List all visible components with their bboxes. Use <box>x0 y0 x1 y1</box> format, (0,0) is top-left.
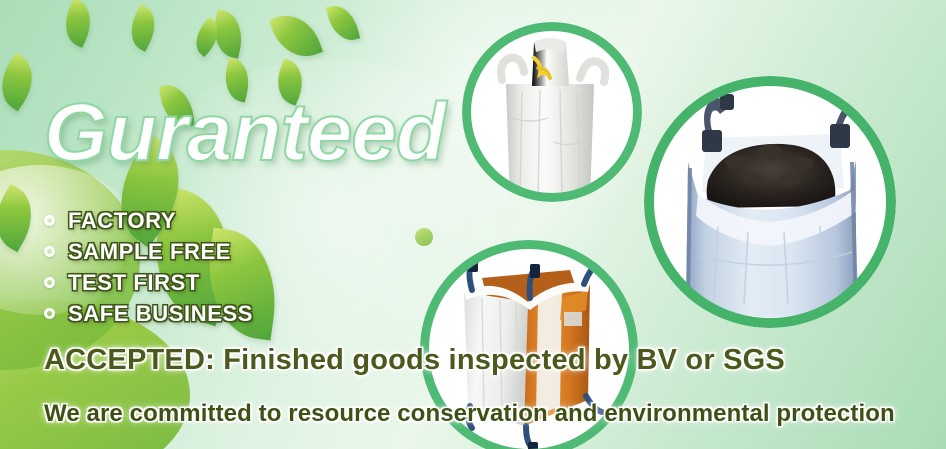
list-item: FACTORY <box>44 206 253 235</box>
promo-banner: Guranteed FACTORY SAMPLE FREE TEST FIRST… <box>0 0 946 449</box>
photo-ring-green <box>644 76 896 328</box>
list-item-label: SAFE BUSINESS <box>68 301 253 327</box>
feature-list: FACTORY SAMPLE FREE TEST FIRST SAFE BUSI… <box>44 206 253 330</box>
list-item-label: FACTORY <box>68 208 176 234</box>
background-dot <box>415 228 433 246</box>
photo-ring-green <box>462 22 642 202</box>
soil-filled-bulk-bag-photo <box>644 76 896 328</box>
white-bulk-bag-photo <box>462 22 642 202</box>
bullet-dot-icon <box>44 215 55 226</box>
tagline: We are committed to resource conservatio… <box>44 400 895 428</box>
certification-statement: ACCEPTED: Finished goods inspected by BV… <box>44 344 785 377</box>
list-item: TEST FIRST <box>44 268 253 297</box>
bullet-dot-icon <box>44 277 55 288</box>
bullet-dot-icon <box>44 246 55 257</box>
list-item: SAFE BUSINESS <box>44 299 253 328</box>
leaf-icon <box>57 0 100 48</box>
page-title: Guranteed <box>44 92 445 174</box>
leaf-icon <box>122 4 164 52</box>
bullet-dot-icon <box>44 308 55 319</box>
list-item: SAMPLE FREE <box>44 237 253 266</box>
list-item-label: SAMPLE FREE <box>68 239 231 265</box>
leaf-icon <box>0 53 45 112</box>
list-item-label: TEST FIRST <box>68 270 200 296</box>
